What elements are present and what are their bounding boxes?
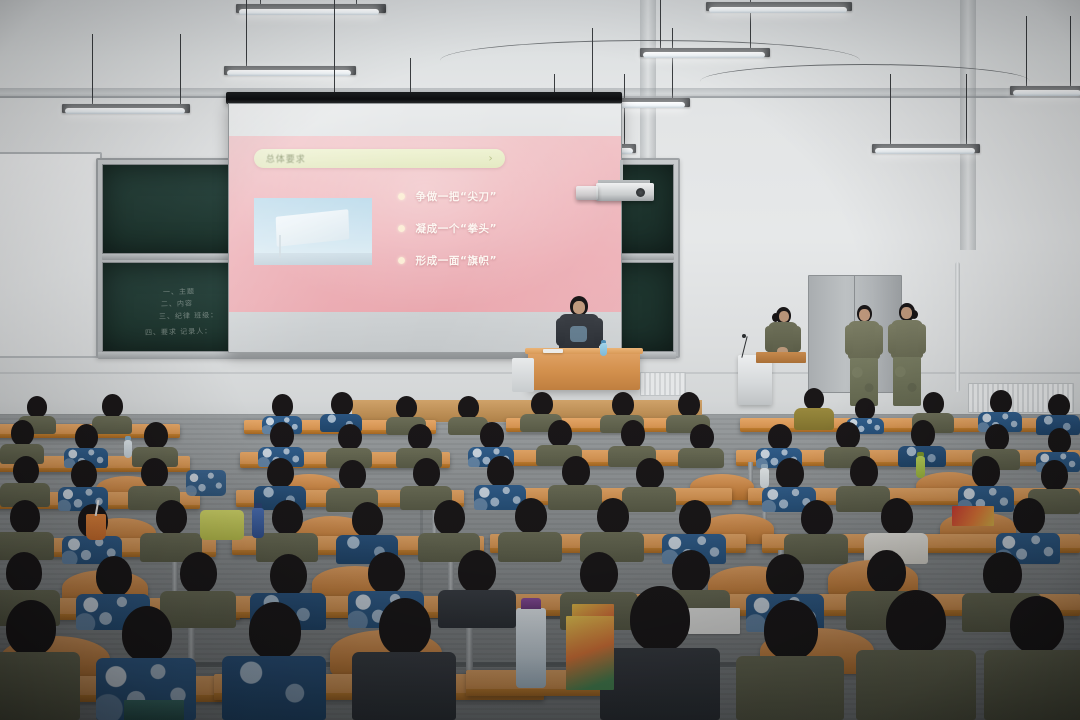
bottle-cap-icon xyxy=(254,503,262,508)
head xyxy=(270,422,294,449)
slide-bullet-3-text: 形成一面“旗帜” xyxy=(416,253,498,268)
chalk-line-4: 四、要求 记录人： xyxy=(145,326,212,338)
head xyxy=(531,392,553,416)
head xyxy=(621,420,645,448)
host-arm-left xyxy=(765,326,773,352)
slide-bullet-3: 形成一面“旗帜” xyxy=(398,253,610,268)
head xyxy=(11,420,34,446)
colorful-book xyxy=(566,616,614,690)
head xyxy=(1041,460,1068,491)
head xyxy=(867,550,906,594)
slide-photo-pole xyxy=(279,235,281,258)
head xyxy=(267,458,294,488)
head xyxy=(972,456,1000,488)
yellow-bag xyxy=(200,510,244,540)
head xyxy=(339,460,366,490)
head xyxy=(612,392,634,417)
head xyxy=(597,498,629,534)
torso xyxy=(600,648,720,720)
slide-bullet-list: 争做一把“尖刀” 凝成一个“拳头” 形成一面“旗帜” xyxy=(398,189,610,285)
red-book-r4 xyxy=(952,506,994,526)
bullet-dot-icon xyxy=(398,257,405,264)
head xyxy=(434,500,465,535)
head xyxy=(764,600,818,660)
bullet-dot-icon xyxy=(398,225,405,232)
head xyxy=(10,500,40,534)
audience-r4-p1 xyxy=(0,500,54,560)
head xyxy=(855,398,875,420)
lecture-hall-photo: 一、主题 二、内容 三、纪律 班级： 四、要求 记录人： 总体要求 › xyxy=(0,0,1080,720)
green-bottle xyxy=(916,456,925,478)
audience-r6-p6 xyxy=(736,600,844,720)
slide-photo-flag xyxy=(275,209,349,247)
bottle-cap-icon xyxy=(521,598,541,609)
whiteboard xyxy=(0,152,102,358)
student-representative-1 xyxy=(847,305,881,407)
head xyxy=(71,460,97,489)
chevron-right-icon: › xyxy=(488,152,492,165)
head xyxy=(458,550,496,593)
audience-r6-p3 xyxy=(222,602,326,720)
head xyxy=(408,424,432,450)
audience-r2-p10 xyxy=(678,424,724,468)
host-face xyxy=(779,311,789,322)
torso xyxy=(736,656,844,720)
head xyxy=(985,424,1009,451)
microphone-icon xyxy=(742,334,746,338)
podium xyxy=(528,352,640,390)
head xyxy=(27,396,47,418)
lectern-desktop xyxy=(756,352,806,363)
bottle-cap-icon xyxy=(761,464,768,468)
head xyxy=(678,392,700,417)
head xyxy=(413,458,440,488)
torso xyxy=(856,650,976,720)
head xyxy=(270,554,307,596)
head xyxy=(144,422,168,449)
slide-bullet-1-text: 争做一把“尖刀” xyxy=(416,189,498,204)
head xyxy=(836,422,860,449)
head xyxy=(679,500,711,536)
head xyxy=(249,602,301,660)
head xyxy=(368,552,405,594)
head xyxy=(487,456,514,487)
speaker-arm-left xyxy=(556,318,565,346)
head xyxy=(801,500,833,536)
head xyxy=(480,422,504,449)
speaker-shirt-graphic xyxy=(570,326,587,342)
head xyxy=(141,458,168,488)
head xyxy=(102,394,123,418)
audience-r6-p4 xyxy=(352,598,456,720)
head xyxy=(850,456,878,488)
water-bottle-r3 xyxy=(760,468,769,488)
head xyxy=(272,394,293,418)
head xyxy=(515,498,547,534)
projector xyxy=(596,183,654,201)
head xyxy=(990,390,1012,414)
head xyxy=(379,598,431,656)
slide-title: 总体要求 xyxy=(266,152,306,165)
head xyxy=(6,552,42,593)
head xyxy=(1048,428,1071,454)
audience-r3-p1 xyxy=(0,456,50,506)
head xyxy=(156,500,187,535)
speaker-face xyxy=(573,301,585,314)
head xyxy=(768,424,792,450)
head xyxy=(75,424,98,450)
audience-r6-p7 xyxy=(856,590,976,720)
slide-title-pill: 总体要求 › xyxy=(254,149,505,168)
head xyxy=(122,606,172,662)
projector-lens xyxy=(636,188,645,197)
slide: 总体要求 › 争做一把“尖刀” 凝成一个“拳头” 形成 xyxy=(229,136,621,312)
audience-r6-p8 xyxy=(984,596,1080,720)
audience-r3-p2 xyxy=(58,460,108,510)
head xyxy=(983,552,1022,596)
head xyxy=(180,552,217,594)
head xyxy=(776,458,804,489)
head xyxy=(923,392,944,415)
podium-papers xyxy=(543,349,563,353)
head xyxy=(911,420,935,448)
projector-mount-rod xyxy=(620,160,623,182)
ceiling-cable-2 xyxy=(700,64,1030,99)
torso xyxy=(352,652,456,720)
blue-sports-bottle xyxy=(252,508,264,538)
wall-pillar-right xyxy=(960,0,976,250)
head xyxy=(352,502,383,537)
head xyxy=(881,498,913,535)
head xyxy=(1010,596,1064,654)
head xyxy=(766,554,804,597)
chalk-line-1: 一、主题 xyxy=(163,287,195,298)
torso xyxy=(984,650,1080,720)
bottle-cap-icon xyxy=(917,452,924,456)
iced-drink-cup xyxy=(86,514,106,540)
head xyxy=(636,458,664,489)
host-arm-right xyxy=(793,326,801,352)
slide-photo xyxy=(254,198,372,265)
rep2-arm-right xyxy=(918,324,926,354)
torso xyxy=(0,652,80,720)
rep1-face xyxy=(859,309,870,321)
bullet-dot-icon xyxy=(398,193,405,200)
bottle-cap-icon xyxy=(125,436,131,440)
head xyxy=(630,586,690,652)
teal-case xyxy=(124,700,184,720)
head xyxy=(331,392,353,416)
water-bottle-r2 xyxy=(124,440,132,458)
head xyxy=(96,556,132,597)
slide-bullet-2: 凝成一个“拳头” xyxy=(398,221,610,236)
head xyxy=(13,456,39,485)
rep1-arm-left xyxy=(845,325,853,355)
rep2-arm-left xyxy=(888,324,896,354)
chalk-line-3: 三、纪律 班级： xyxy=(159,310,218,322)
bottle-cap-icon xyxy=(601,340,606,343)
head xyxy=(272,500,303,535)
torso xyxy=(222,656,326,720)
podium-side-cabinet xyxy=(512,358,534,392)
speaker-water-bottle xyxy=(600,343,607,356)
wall-pipe xyxy=(955,262,960,392)
rep2-face xyxy=(901,307,912,319)
audience-r6-p1 xyxy=(0,600,80,720)
slide-bullet-2-text: 凝成一个“拳头” xyxy=(416,221,498,236)
head xyxy=(690,424,714,450)
head xyxy=(804,388,824,410)
head xyxy=(562,456,590,487)
chalk-line-2: 二、内容 xyxy=(161,299,193,310)
camo-bag-r3 xyxy=(186,470,226,496)
audience-r6-p5 xyxy=(600,586,720,720)
projector-side-box xyxy=(576,186,598,200)
audience-r4-p4 xyxy=(256,500,318,562)
head xyxy=(6,600,56,656)
host-hair xyxy=(772,313,779,322)
torso xyxy=(678,448,724,468)
rep1-arm-right xyxy=(875,325,883,355)
head xyxy=(886,590,946,654)
head xyxy=(338,424,362,450)
head xyxy=(396,396,417,419)
head xyxy=(1013,498,1045,535)
purple-cap-water-bottle xyxy=(516,608,546,688)
head xyxy=(1048,394,1070,417)
slide-photo-ground xyxy=(254,253,372,265)
head xyxy=(548,420,572,447)
head xyxy=(458,396,479,419)
